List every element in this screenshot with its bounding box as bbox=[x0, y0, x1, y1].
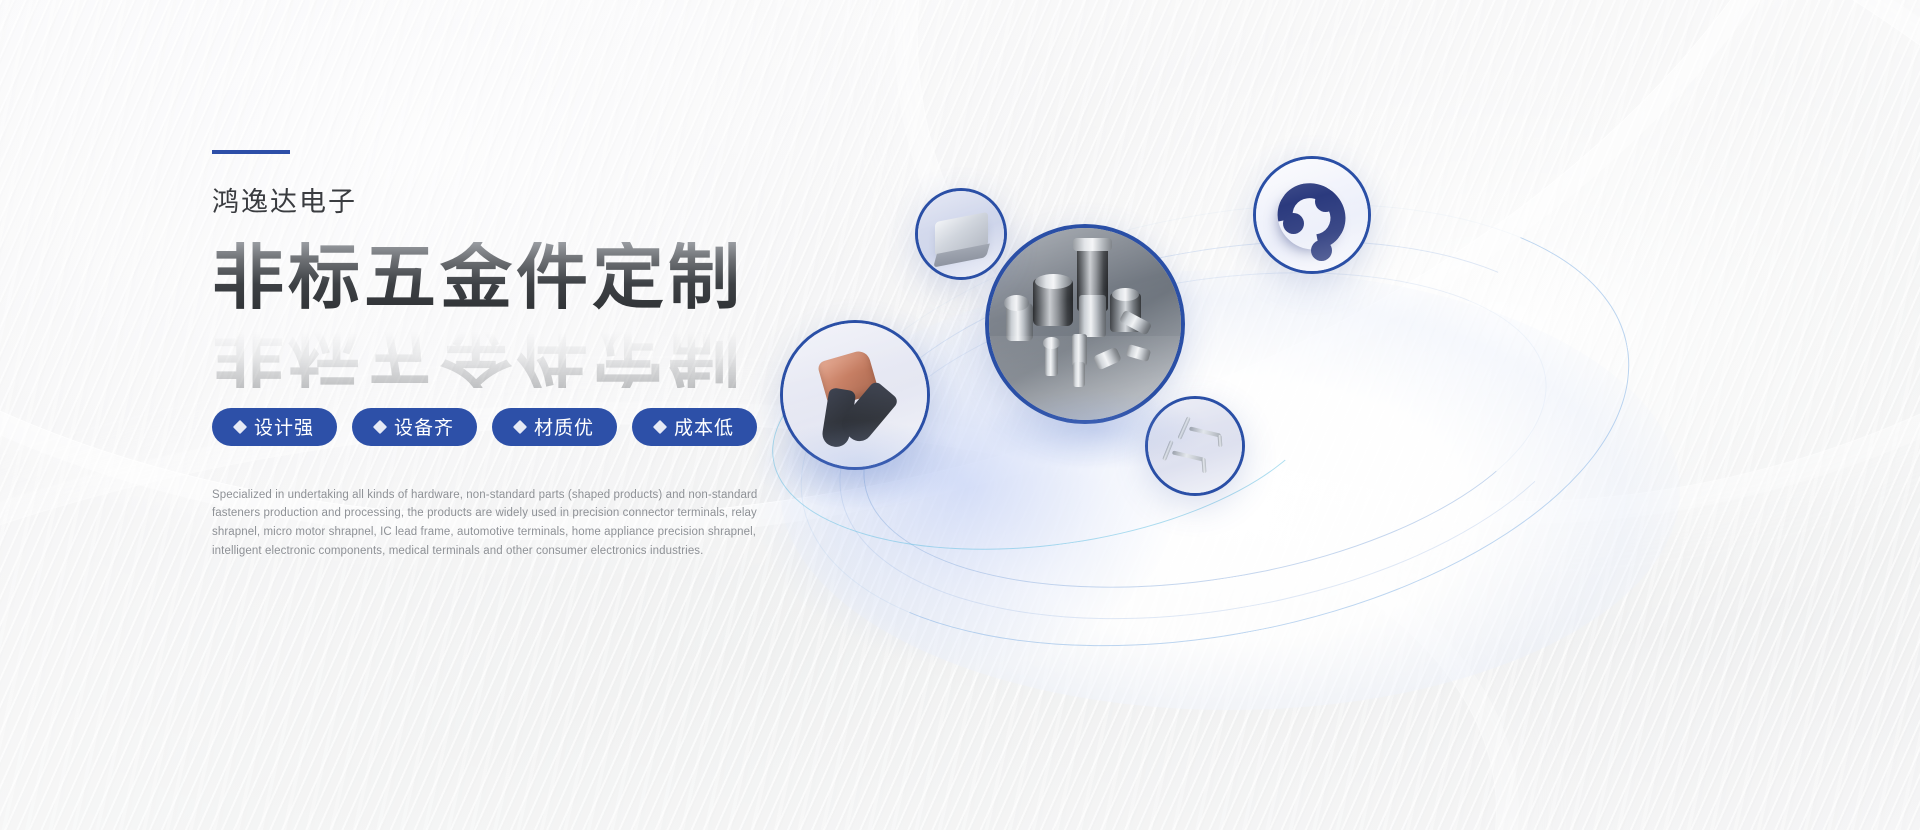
accent-rule bbox=[212, 150, 290, 154]
feature-badge-design[interactable]: 设计强 bbox=[212, 408, 337, 446]
feature-badge-label: 成本低 bbox=[674, 413, 734, 440]
feature-badge-label: 材质优 bbox=[534, 413, 594, 440]
bent-metal-terminal-pins-photo bbox=[1148, 399, 1242, 493]
bubble-sheen bbox=[1148, 399, 1242, 493]
product-bubble-battery-clamp[interactable] bbox=[780, 320, 930, 470]
company-description: Specialized in undertaking all kinds of … bbox=[212, 486, 782, 561]
copper-battery-clamp-photo bbox=[783, 323, 927, 467]
feature-badge-material[interactable]: 材质优 bbox=[492, 408, 617, 446]
product-bubble-metal-enclosure[interactable] bbox=[915, 188, 1007, 280]
product-bubble-machined-parts[interactable] bbox=[985, 224, 1185, 424]
diamond-icon bbox=[513, 420, 527, 434]
product-showcase bbox=[740, 120, 1820, 680]
stamped-metal-enclosure-box-photo bbox=[918, 191, 1004, 277]
feature-badge-equipment[interactable]: 设备齐 bbox=[352, 408, 477, 446]
banner-stage: 鸿逸达电子 非标五金件定制 非标五金件定制 设计强 设备齐 材质优 成本低 bbox=[0, 0, 1920, 830]
machined-metal-parts-assortment-photo bbox=[989, 228, 1181, 420]
product-bubble-c-ring[interactable] bbox=[1253, 156, 1371, 274]
page-title-reflection: 非标五金件定制 bbox=[212, 316, 744, 388]
feature-badge-label: 设备齐 bbox=[394, 413, 454, 440]
feature-badge-cost[interactable]: 成本低 bbox=[632, 408, 757, 446]
feature-badge-label: 设计强 bbox=[254, 413, 314, 440]
diamond-icon bbox=[233, 420, 247, 434]
diamond-icon bbox=[653, 420, 667, 434]
blue-c-shaped-retaining-part-photo bbox=[1256, 159, 1368, 271]
product-bubble-terminal-pins[interactable] bbox=[1145, 396, 1245, 496]
diamond-icon bbox=[373, 420, 387, 434]
